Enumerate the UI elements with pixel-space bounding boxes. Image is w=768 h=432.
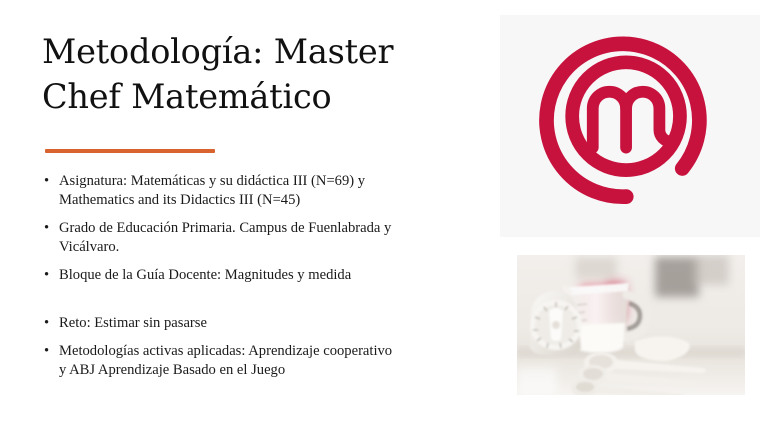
- bullet-marker-icon: •: [44, 266, 49, 285]
- list-item-line-2: Vicálvaro.: [59, 238, 482, 257]
- title-line-2: Chef Matemático: [42, 75, 462, 120]
- list-item-line-2: y ABJ Aprendizaje Basado en el Juego: [59, 361, 482, 380]
- bullet-marker-icon: •: [44, 219, 49, 238]
- masterchef-logo-image: [500, 15, 760, 237]
- page-title: Metodología: Master Chef Matemático: [42, 30, 462, 119]
- slide: Metodología: Master Chef Matemático • As…: [0, 0, 768, 432]
- bullet-marker-icon: •: [44, 342, 49, 361]
- bullet-list: • Asignatura: Matemáticas y su didáctica…: [42, 172, 482, 389]
- list-item: • Reto: Estimar sin pasarse: [42, 314, 482, 333]
- list-item: • Asignatura: Matemáticas y su didáctica…: [42, 172, 482, 210]
- list-item-line-1: Grado de Educación Primaria. Campus de F…: [59, 219, 482, 238]
- list-item-line-1: Asignatura: Matemáticas y su didáctica I…: [59, 172, 482, 191]
- list-item-line-1: Metodologías activas aplicadas: Aprendiz…: [59, 342, 482, 361]
- kitchen-photo-illustration: [517, 255, 745, 395]
- list-item: • Bloque de la Guía Docente: Magnitudes …: [42, 266, 482, 285]
- list-item: • Grado de Educación Primaria. Campus de…: [42, 219, 482, 257]
- list-item-line-1: Reto: Estimar sin pasarse: [59, 314, 482, 333]
- title-line-1: Metodología: Master: [42, 30, 462, 75]
- bullet-marker-icon: •: [44, 172, 49, 191]
- title-divider: [45, 149, 215, 153]
- masterchef-logo-icon: [532, 26, 728, 226]
- bullet-marker-icon: •: [44, 314, 49, 333]
- list-item-line-1: Bloque de la Guía Docente: Magnitudes y …: [59, 266, 482, 285]
- list-item-line-2: Mathematics and its Didactics III (N=45): [59, 191, 482, 210]
- kitchen-utensils-photo: [517, 255, 745, 395]
- list-item: • Metodologías activas aplicadas: Aprend…: [42, 342, 482, 380]
